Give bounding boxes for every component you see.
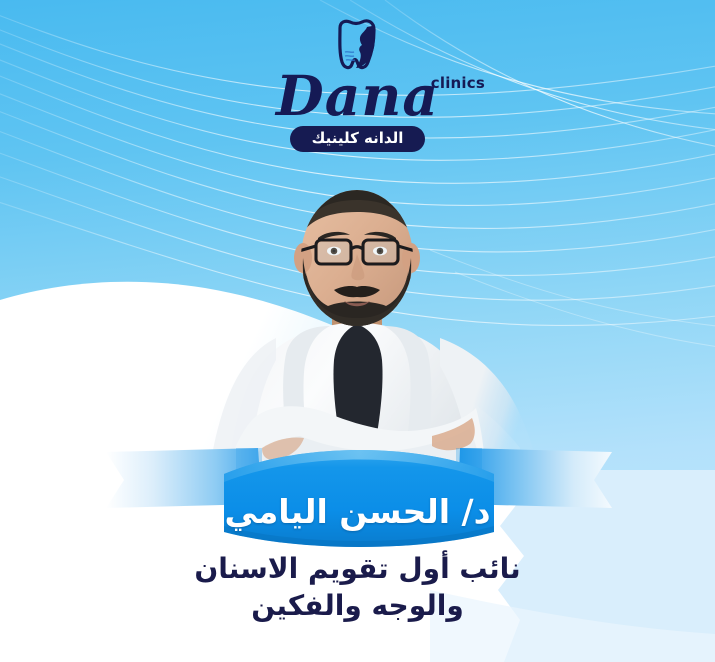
brand-logo: Dana clinics الدانه كلينيك [0,18,715,152]
logo-subword: clinics [431,74,485,92]
doctor-title-line-1: نائب أول تقويم الاسنان [0,550,715,587]
doctor-name: د/ الحسن اليامي [0,492,715,531]
doctor-title-line-2: والوجه والفكين [0,587,715,624]
logo-wordmark-row: Dana clinics [276,68,439,124]
logo-wordmark: Dana [276,68,439,124]
doctor-title: نائب أول تقويم الاسنان والوجه والفكين [0,550,715,624]
clinic-doctor-poster: Dana clinics الدانه كلينيك [0,0,715,662]
logo-arabic-pill: الدانه كلينيك [290,126,426,152]
